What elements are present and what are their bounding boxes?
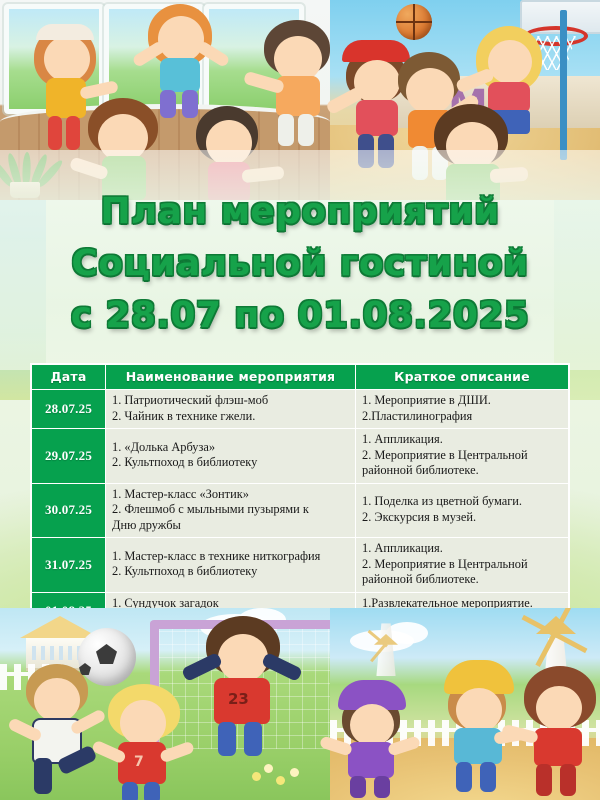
cell-date: 31.07.25 bbox=[32, 538, 106, 593]
table-row: 31.07.25 1. Мастер-класс в технике нитко… bbox=[32, 538, 569, 593]
kid-figure bbox=[258, 20, 338, 150]
cell-date: 29.07.25 bbox=[32, 429, 106, 484]
cell-description: 1. Аппликация. 2. Мероприятие в Централь… bbox=[356, 429, 569, 484]
cell-description: 1. Поделка из цветной бумаги. 2. Экскурс… bbox=[356, 483, 569, 538]
kid-figure bbox=[18, 664, 114, 800]
jersey-number: 23 bbox=[228, 690, 249, 708]
event-line: 1. Мастер-класс в технике ниткография bbox=[112, 549, 349, 565]
soccer-scene: 7 23 bbox=[0, 608, 330, 800]
description-line: 2.Пластилинография bbox=[362, 409, 562, 425]
description-line: 2. Мероприятие в Центральной bbox=[362, 448, 562, 464]
event-line: 2. Флешмоб с мыльными пузырями к bbox=[112, 502, 349, 518]
column-header-description: Краткое описание bbox=[356, 365, 569, 390]
title-line-2: Социальной гостиной bbox=[0, 238, 600, 290]
cell-description: 1. Мероприятие в ДШИ. 2.Пластилинография bbox=[356, 390, 569, 429]
table-row: 30.07.25 1. Мастер-класс «Зонтик» 2. Фле… bbox=[32, 483, 569, 538]
event-line: 2. Культпоход в библиотеку bbox=[112, 564, 349, 580]
poster-canvas: M bbox=[0, 0, 600, 800]
description-line: 1. Аппликация. bbox=[362, 432, 562, 448]
description-line: 2. Мероприятие в Центральной bbox=[362, 557, 562, 573]
events-plan-table: Дата Наименование мероприятия Краткое оп… bbox=[31, 364, 569, 632]
description-line: районной библиотеке. bbox=[362, 463, 562, 479]
cell-description: 1. Аппликация. 2. Мероприятие в Централь… bbox=[356, 538, 569, 593]
rollerblading-scene bbox=[330, 608, 600, 800]
bottom-illustration: 7 23 bbox=[0, 608, 600, 800]
basketball-icon bbox=[396, 4, 432, 40]
column-header-date: Дата bbox=[32, 365, 106, 390]
table-header-row: Дата Наименование мероприятия Краткое оп… bbox=[32, 365, 569, 390]
table-row: 29.07.25 1. «Долька Арбуза» 2. Культпохо… bbox=[32, 429, 569, 484]
cell-date: 28.07.25 bbox=[32, 390, 106, 429]
page-title: План мероприятий Социальной гостиной с 2… bbox=[0, 186, 600, 342]
cell-event: 1. Мастер-класс в технике ниткография 2.… bbox=[106, 538, 356, 593]
column-header-event: Наименование мероприятия bbox=[106, 365, 356, 390]
event-line: 1. Патриотический флэш-моб bbox=[112, 393, 349, 409]
event-line: 1. Мастер-класс «Зонтик» bbox=[112, 487, 349, 503]
description-line: 1. Мероприятие в ДШИ. bbox=[362, 393, 562, 409]
cell-event: 1. «Долька Арбуза» 2. Культпоход в библи… bbox=[106, 429, 356, 484]
description-line: 1. Аппликация. bbox=[362, 541, 562, 557]
title-line-1: План мероприятий bbox=[0, 186, 600, 238]
cell-date: 30.07.25 bbox=[32, 483, 106, 538]
description-line: 1. Поделка из цветной бумаги. bbox=[362, 494, 562, 510]
event-line: 2. Культпоход в библиотеку bbox=[112, 455, 349, 471]
event-line: 2. Чайник в технике гжели. bbox=[112, 409, 349, 425]
kid-figure bbox=[334, 680, 424, 798]
cell-event: 1. Патриотический флэш-моб 2. Чайник в т… bbox=[106, 390, 356, 429]
kid-figure: 7 bbox=[104, 684, 198, 800]
basketball-pole bbox=[560, 10, 567, 160]
flower-icon bbox=[250, 758, 320, 798]
cell-event: 1. Мастер-класс «Зонтик» 2. Флешмоб с мы… bbox=[106, 483, 356, 538]
event-line: Дню дружбы bbox=[112, 518, 349, 534]
jersey-number: 7 bbox=[134, 754, 144, 770]
events-table-container: Дата Наименование мероприятия Краткое оп… bbox=[31, 364, 568, 632]
event-line: 1. «Долька Арбуза» bbox=[112, 440, 349, 456]
description-line: районной библиотеке. bbox=[362, 572, 562, 588]
description-line: 2. Экскурсия в музей. bbox=[362, 510, 562, 526]
kid-figure: 23 bbox=[196, 616, 300, 764]
windmill-icon bbox=[368, 634, 393, 676]
table-body: 28.07.25 1. Патриотический флэш-моб 2. Ч… bbox=[32, 390, 569, 632]
table-row: 28.07.25 1. Патриотический флэш-моб 2. Ч… bbox=[32, 390, 569, 429]
title-line-3: с 28.07 по 01.08.2025 bbox=[0, 290, 600, 342]
kid-figure bbox=[518, 666, 600, 800]
